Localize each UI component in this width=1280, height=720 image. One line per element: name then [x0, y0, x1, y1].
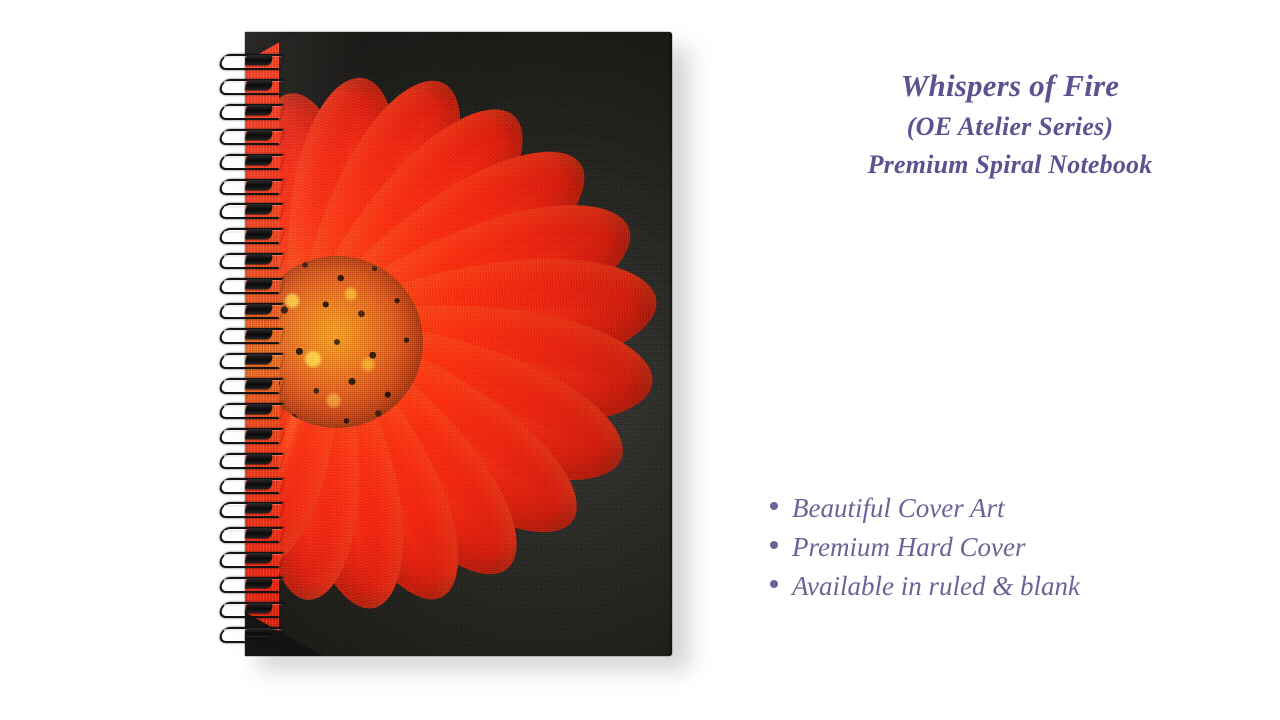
- list-item: Beautiful Cover Art: [770, 489, 1270, 528]
- spiral-coil-stub: [245, 254, 274, 264]
- spiral-coil: [218, 403, 280, 416]
- spiral-coil-stub: [245, 229, 274, 239]
- spiral-coil-stub: [245, 528, 274, 538]
- list-item: Available in ruled & blank: [770, 567, 1270, 606]
- spiral-coil: [218, 353, 280, 366]
- spiral-coil: [218, 328, 280, 341]
- list-item: Premium Hard Cover: [770, 528, 1270, 567]
- spiral-coil-stub: [245, 304, 274, 314]
- spiral-coil: [218, 104, 280, 117]
- product-listing-canvas: Whispers of Fire (OE Atelier Series) Pre…: [0, 0, 1280, 720]
- spiral-coil-stub: [245, 329, 274, 339]
- spiral-coil: [218, 552, 280, 565]
- spiral-coil-stub: [245, 379, 274, 389]
- spiral-coil-stub: [245, 603, 274, 613]
- spiral-coil: [218, 527, 280, 540]
- product-image-area: [0, 0, 740, 720]
- spiral-coil-stub: [245, 429, 274, 439]
- product-text-panel: Whispers of Fire (OE Atelier Series) Pre…: [740, 0, 1280, 720]
- spiral-coil-stub: [245, 578, 274, 588]
- spiral-coil: [218, 428, 280, 441]
- notebook-cover-art: [245, 32, 672, 656]
- spiral-coil-stub: [245, 628, 274, 638]
- spiral-coil-stub: [245, 105, 274, 115]
- spiral-coil-stub: [245, 55, 274, 65]
- spiral-coil: [218, 303, 280, 316]
- feature-label: Premium Hard Cover: [792, 528, 1025, 567]
- bullet-icon: [770, 502, 778, 510]
- spiral-coil-stub: [245, 479, 274, 489]
- spiral-coil: [218, 54, 280, 67]
- feature-label: Beautiful Cover Art: [792, 489, 1004, 528]
- spiral-coil-stub: [245, 404, 274, 414]
- product-feature-list: Beautiful Cover Art Premium Hard Cover A…: [770, 489, 1270, 606]
- product-title-line-2: (OE Atelier Series): [740, 108, 1280, 146]
- spiral-coil: [218, 602, 280, 615]
- spiral-coil: [218, 79, 280, 92]
- spiral-coil-stub: [245, 130, 274, 140]
- spiral-coil: [218, 253, 280, 266]
- spiral-coil-stub: [245, 80, 274, 90]
- spiral-notebook[interactable]: [218, 32, 674, 656]
- spiral-coil: [218, 129, 280, 142]
- spiral-coil: [218, 577, 280, 590]
- spiral-coil: [218, 228, 280, 241]
- spiral-binding[interactable]: [218, 54, 282, 640]
- spiral-coil: [218, 278, 280, 291]
- spiral-coil: [218, 378, 280, 391]
- spiral-coil: [218, 179, 280, 192]
- spiral-coil: [218, 154, 280, 167]
- bullet-icon: [770, 541, 778, 549]
- spiral-coil: [218, 203, 280, 216]
- spiral-coil: [218, 478, 280, 491]
- product-title-line-3: Premium Spiral Notebook: [740, 146, 1280, 184]
- spiral-coil: [218, 502, 280, 515]
- spiral-coil: [218, 627, 280, 640]
- product-title-block: Whispers of Fire (OE Atelier Series) Pre…: [740, 64, 1280, 184]
- spiral-coil: [218, 453, 280, 466]
- spiral-coil-stub: [245, 155, 274, 165]
- spiral-coil-stub: [245, 204, 274, 214]
- spiral-coil-stub: [245, 503, 274, 513]
- spiral-coil-stub: [245, 180, 274, 190]
- bullet-icon: [770, 580, 778, 588]
- spiral-coil-stub: [245, 279, 274, 289]
- spiral-coil-stub: [245, 553, 274, 563]
- product-title-line-1: Whispers of Fire: [740, 64, 1280, 108]
- spiral-coil-stub: [245, 454, 274, 464]
- spiral-coil-stub: [245, 354, 274, 364]
- feature-label: Available in ruled & blank: [792, 567, 1080, 606]
